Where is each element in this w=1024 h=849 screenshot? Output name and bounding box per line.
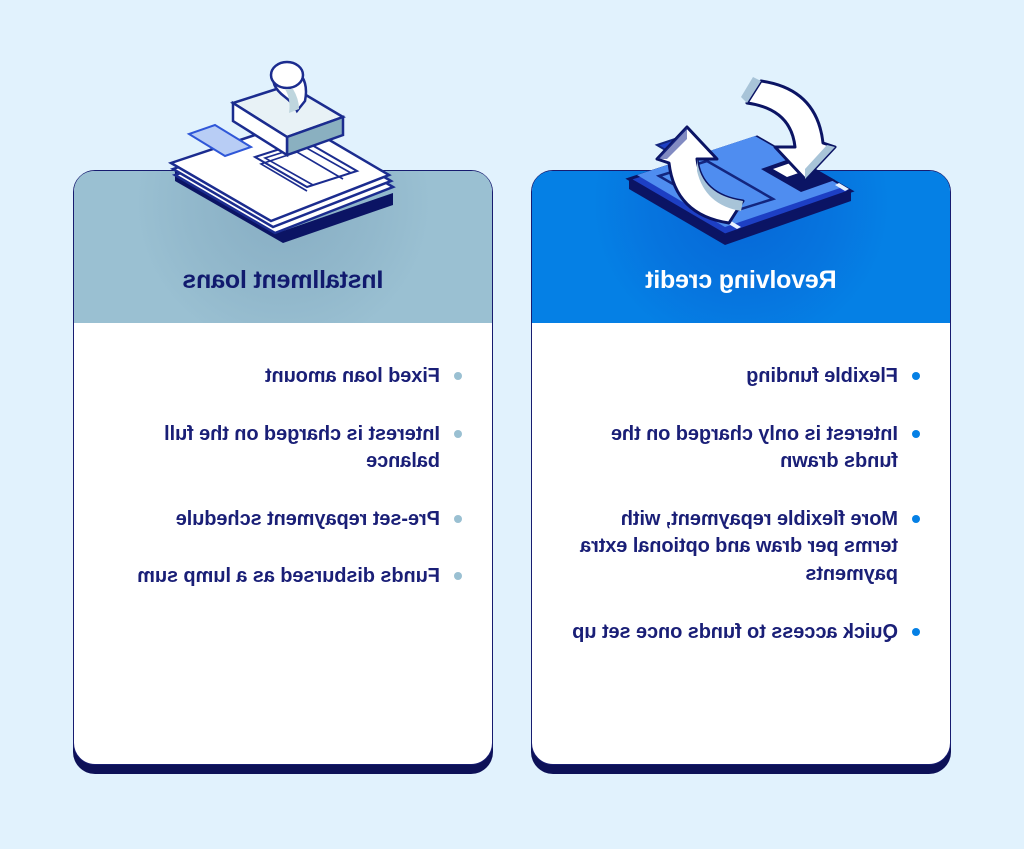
- list-item: Funds disbursed as a lump sum: [104, 563, 462, 591]
- card-title: Revolving credit: [645, 266, 836, 323]
- feature-list-installment: Fixed loan amount Interest is charged on…: [104, 363, 462, 591]
- list-item: Quick access to funds once set up: [562, 619, 920, 647]
- feature-text: Quick access to funds once set up: [572, 619, 898, 647]
- card-header-installment: Installment loans: [74, 171, 492, 323]
- card-revolving-credit: Revolving credit: [531, 170, 951, 765]
- feature-list-revolving: Flexible funding Interest is only charge…: [562, 363, 920, 646]
- feature-text: Pre-set repayment schedule: [176, 506, 440, 534]
- bullet-dot-icon: [454, 430, 462, 438]
- feature-text: Flexible funding: [746, 363, 898, 391]
- list-item: Pre-set repayment schedule: [104, 506, 462, 534]
- feature-text: Interest is only charged on the funds dr…: [562, 421, 898, 476]
- bullet-dot-icon: [912, 372, 920, 380]
- card-body-installment: Fixed loan amount Interest is charged on…: [74, 323, 492, 621]
- list-item: Interest is only charged on the funds dr…: [562, 421, 920, 476]
- list-item: Fixed loan amount: [104, 363, 462, 391]
- feature-text: Interest is charged on the full balance: [104, 421, 440, 476]
- card-title: Installment loans: [183, 266, 384, 323]
- comparison-graphic: Revolving credit: [0, 0, 1024, 849]
- feature-text: Fixed loan amount: [265, 363, 440, 391]
- bullet-dot-icon: [912, 430, 920, 438]
- bullet-dot-icon: [912, 628, 920, 636]
- list-item: More flexible repayment, with terms per …: [562, 506, 920, 589]
- feature-text: Funds disbursed as a lump sum: [137, 563, 440, 591]
- list-item: Interest is charged on the full balance: [104, 421, 462, 476]
- list-item: Flexible funding: [562, 363, 920, 391]
- feature-text: More flexible repayment, with terms per …: [562, 506, 898, 589]
- bullet-dot-icon: [912, 515, 920, 523]
- card-header-revolving: Revolving credit: [532, 171, 950, 323]
- bullet-dot-icon: [454, 372, 462, 380]
- card-installment-loans: Installment loans: [73, 170, 493, 765]
- card-body-revolving: Flexible funding Interest is only charge…: [532, 323, 950, 676]
- bullet-dot-icon: [454, 515, 462, 523]
- bullet-dot-icon: [454, 572, 462, 580]
